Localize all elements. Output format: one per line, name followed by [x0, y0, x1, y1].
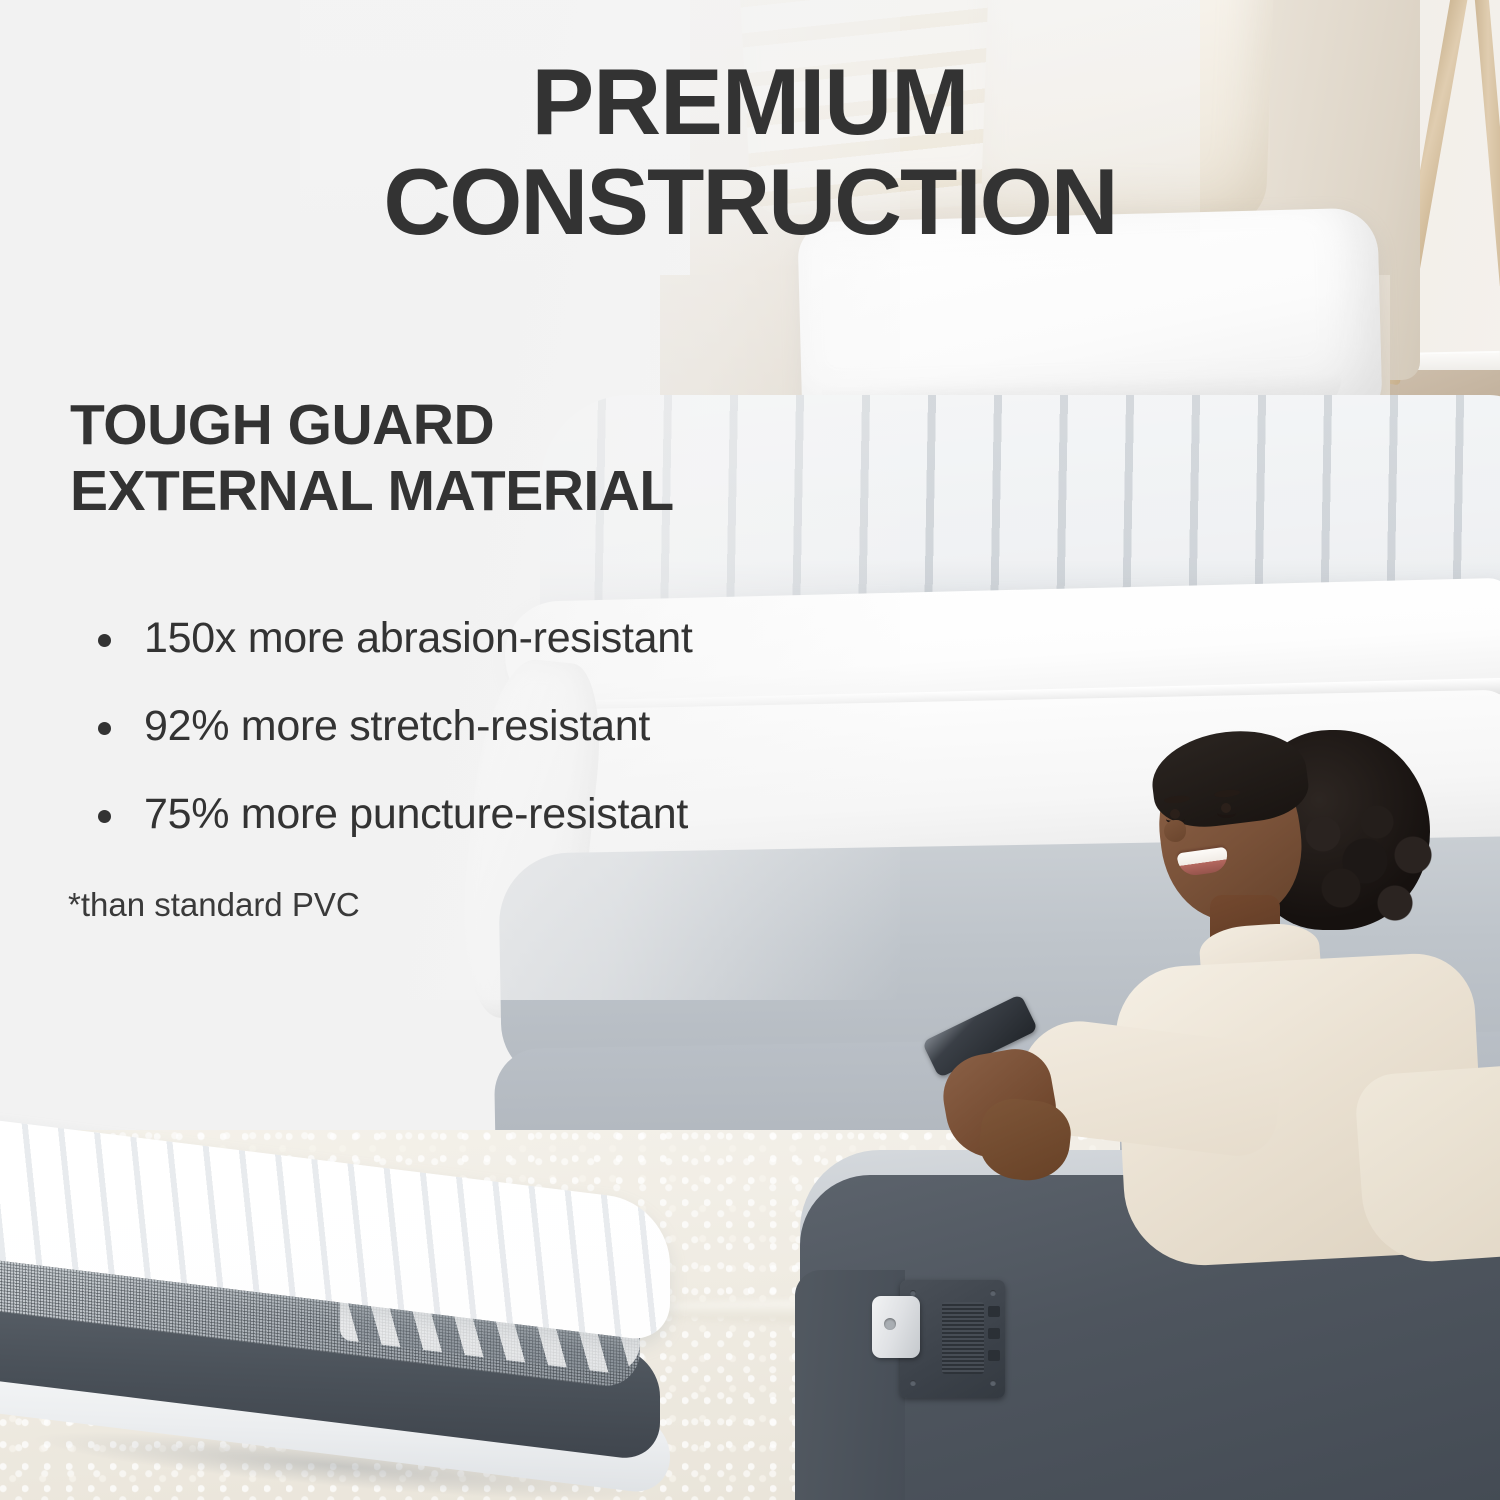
- feature-bullet-list: 150x more abrasion-resistant 92% more st…: [88, 612, 968, 876]
- pump-vent-slot: [988, 1328, 1000, 1339]
- subheading: TOUGH GUARD EXTERNAL MATERIAL: [70, 392, 890, 524]
- nose: [1164, 820, 1186, 842]
- bullet-text: 92% more stretch-resistant: [144, 702, 650, 750]
- subheading-line-1: TOUGH GUARD: [70, 393, 494, 457]
- headline-line-1: PREMIUM: [532, 49, 969, 154]
- hair-curls: [1290, 795, 1440, 945]
- pump-screw: [990, 1380, 996, 1386]
- pump-vent-slot: [988, 1306, 1000, 1317]
- list-item: 75% more puncture-resistant: [88, 788, 968, 840]
- pump-screw: [990, 1290, 996, 1296]
- footnote: *than standard PVC: [68, 884, 360, 926]
- person-on-mattress: [1060, 700, 1500, 1260]
- pump-screw: [910, 1380, 916, 1386]
- pump-vent-grille: [942, 1302, 984, 1374]
- pump-control-dial: [872, 1296, 920, 1358]
- eye: [1217, 808, 1236, 818]
- product-feature-graphic: PREMIUM CONSTRUCTION TOUGH GUARD EXTERNA…: [0, 0, 1500, 1500]
- bullet-text: 150x more abrasion-resistant: [144, 614, 692, 662]
- subheading-line-2: EXTERNAL MATERIAL: [70, 458, 890, 524]
- headline: PREMIUM CONSTRUCTION: [0, 52, 1500, 252]
- bullet-text: 75% more puncture-resistant: [144, 790, 688, 838]
- list-item: 92% more stretch-resistant: [88, 700, 968, 752]
- pump-vent-slot: [988, 1350, 1000, 1361]
- mattress-cutaway-render: [0, 1160, 730, 1500]
- list-item: 150x more abrasion-resistant: [88, 612, 968, 664]
- headline-line-2: CONSTRUCTION: [0, 152, 1500, 252]
